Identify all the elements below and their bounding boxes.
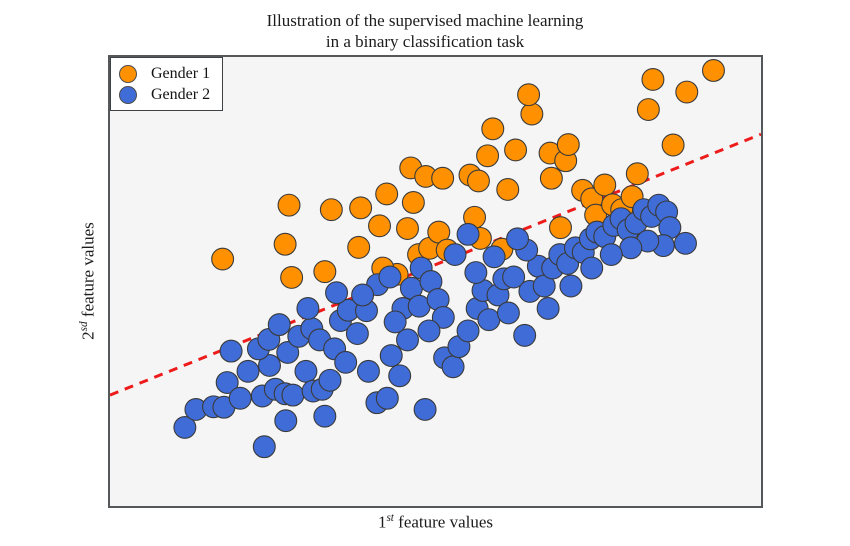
data-point [274,233,296,255]
data-point [637,99,659,121]
x-axis-label-sup: st [386,512,393,524]
data-point [550,217,572,239]
data-point [414,399,436,421]
legend: Gender 1 Gender 2 [110,57,223,111]
data-point [468,170,490,192]
data-point [557,134,579,156]
data-point [297,298,319,320]
data-point [295,360,317,382]
data-point [369,215,391,237]
data-point [432,167,454,189]
data-point [281,267,303,289]
data-point [268,314,290,336]
data-point [212,248,234,270]
data-point [380,345,402,367]
data-point [477,145,499,167]
data-point [560,275,582,297]
legend-item-gender-1[interactable]: Gender 1 [119,63,210,84]
data-point [620,237,642,259]
data-point [497,179,519,201]
data-point [282,384,304,406]
data-point [457,320,479,342]
x-axis-label: 1st feature values [108,512,763,533]
data-point [350,197,372,219]
data-point [518,84,540,106]
data-point [229,387,251,409]
legend-swatch-gender-2 [119,86,137,104]
data-point [253,436,275,458]
data-point [376,183,398,205]
data-point [444,244,466,266]
data-point [346,323,368,345]
data-point [675,232,697,254]
data-point [352,284,374,306]
figure-root: Illustration of the supervised machine l… [0,0,850,546]
legend-label-gender-2: Gender 2 [151,86,210,104]
data-point [537,298,559,320]
data-point [376,387,398,409]
y-axis-label-prefix: 2 [79,331,98,340]
data-point [237,360,259,382]
data-point [507,228,529,250]
data-point [358,360,380,382]
data-point [402,192,424,214]
data-point [220,340,242,362]
data-point [600,244,622,266]
data-point [275,410,297,432]
data-point [314,405,336,427]
legend-item-gender-2[interactable]: Gender 2 [119,84,210,105]
data-point [348,236,370,258]
data-point [482,118,504,140]
data-point [397,218,419,240]
data-point [418,320,440,342]
plot-area [108,55,763,508]
legend-swatch-gender-1 [119,65,137,83]
scatter-canvas [110,57,761,506]
y-axis-label-sup: sd [78,321,90,331]
chart-title: Illustration of the supervised machine l… [0,10,850,52]
data-point [442,356,464,378]
data-point [521,103,543,125]
y-axis-label-suffix: feature values [79,222,98,321]
y-axis-label: 2sd feature values [78,151,104,411]
data-point [581,257,603,279]
data-point [626,163,648,185]
data-point [457,223,479,245]
data-point [379,266,401,288]
data-point [642,69,664,91]
data-point [662,134,684,156]
data-point [478,309,500,331]
x-axis-label-suffix: feature values [394,513,493,532]
data-point [335,351,357,373]
data-point [384,311,406,333]
data-point [278,194,300,216]
data-point [594,174,616,196]
data-point [505,139,527,161]
data-point [540,167,562,189]
data-point [483,246,505,268]
data-point [703,60,725,82]
legend-label-gender-1: Gender 1 [151,65,210,83]
data-point [497,302,519,324]
data-point [389,365,411,387]
series-1 [212,60,725,289]
data-point [465,262,487,284]
data-point [326,282,348,304]
data-point [319,369,341,391]
data-point [314,261,336,283]
data-point [514,324,536,346]
data-point [676,81,698,103]
data-point [320,199,342,221]
